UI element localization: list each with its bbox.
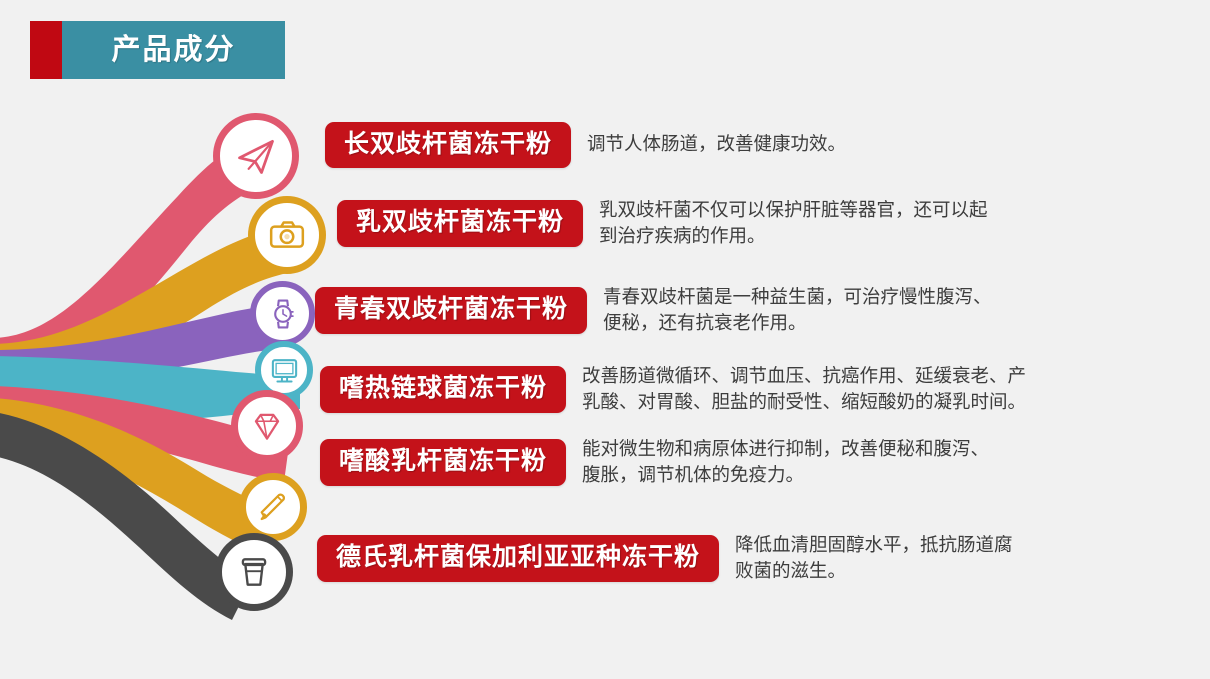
- item-title-banner-2[interactable]: 乳双歧杆菌冻干粉: [337, 200, 583, 246]
- diamond-icon: [248, 407, 286, 445]
- icon-circle-7[interactable]: [215, 533, 293, 611]
- item-description-1: 调节人体肠道，改善健康功效。: [587, 132, 846, 158]
- pencil-icon: [255, 489, 291, 525]
- icon-circle-3[interactable]: [250, 281, 315, 346]
- item-description-6: 降低血清胆固醇水平，抵抗肠道腐 败菌的滋生。: [735, 533, 1013, 584]
- item-description-4: 改善肠道微循环、调节血压、抗癌作用、延缓衰老、产 乳酸、对胃酸、胆盐的耐受性、缩…: [582, 364, 1026, 415]
- item-description-3: 青春双歧杆菌是一种益生菌，可治疗慢性腹泻、 便秘，还有抗衰老作用。: [603, 285, 992, 336]
- coffee-cup-icon: [235, 553, 273, 591]
- icon-circle-5[interactable]: [231, 390, 303, 462]
- item-description-5: 能对微生物和病原体进行抑制，改善便秘和腹泻、 腹胀，调节机体的免疫力。: [582, 437, 989, 488]
- icon-circle-2[interactable]: [248, 196, 326, 274]
- item-description-2: 乳双歧杆菌不仅可以保护肝脏等器官，还可以起 到治疗疾病的作用。: [599, 198, 988, 249]
- item-title-banner-6[interactable]: 德氏乳杆菌保加利亚亚种冻干粉: [317, 535, 719, 581]
- watch-icon: [266, 297, 300, 331]
- slide-canvas: 产品成分: [0, 0, 1210, 679]
- item-title-banner-4[interactable]: 嗜热链球菌冻干粉: [320, 366, 566, 412]
- item-title-banner-3[interactable]: 青春双歧杆菌冻干粉: [315, 287, 587, 333]
- paper-plane-icon: [234, 134, 278, 178]
- item-title-banner-1[interactable]: 长双歧杆菌冻干粉: [325, 122, 571, 168]
- item-row-4: 嗜热链球菌冻干粉 改善肠道微循环、调节血压、抗癌作用、延缓衰老、产 乳酸、对胃酸…: [320, 364, 1026, 415]
- monitor-icon: [269, 355, 300, 386]
- icon-circle-6[interactable]: [239, 473, 307, 541]
- icon-circle-1[interactable]: [213, 113, 299, 199]
- item-row-5: 嗜酸乳杆菌冻干粉 能对微生物和病原体进行抑制，改善便秘和腹泻、 腹胀，调节机体的…: [320, 437, 989, 488]
- item-title-banner-5[interactable]: 嗜酸乳杆菌冻干粉: [320, 439, 566, 485]
- item-row-3: 青春双歧杆菌冻干粉 青春双歧杆菌是一种益生菌，可治疗慢性腹泻、 便秘，还有抗衰老…: [315, 285, 992, 336]
- camera-icon: [267, 215, 307, 255]
- item-row-1: 长双歧杆菌冻干粉 调节人体肠道，改善健康功效。: [325, 122, 846, 168]
- item-row-6: 德氏乳杆菌保加利亚亚种冻干粉 降低血清胆固醇水平，抵抗肠道腐 败菌的滋生。: [317, 533, 1013, 584]
- item-row-2: 乳双歧杆菌冻干粉 乳双歧杆菌不仅可以保护肝脏等器官，还可以起 到治疗疾病的作用。: [337, 198, 988, 249]
